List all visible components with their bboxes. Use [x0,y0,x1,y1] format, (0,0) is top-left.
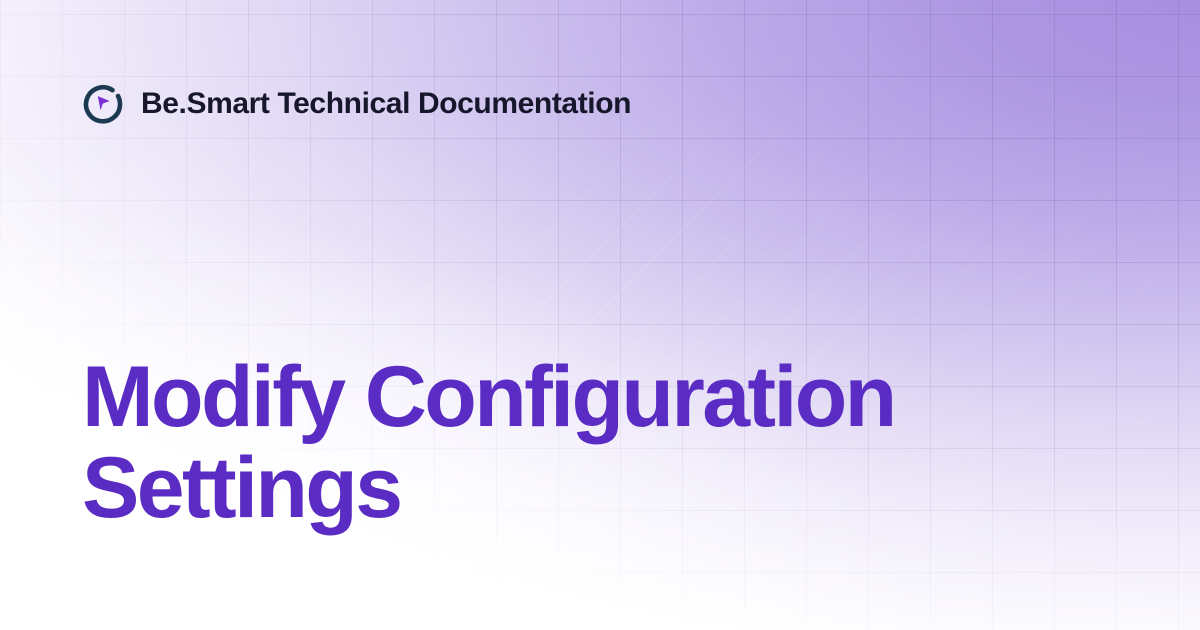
brand-header: Be.Smart Technical Documentation [82,83,631,125]
documentation-banner: Be.Smart Technical Documentation Modify … [0,0,1200,630]
page-title: Modify Configuration Settings [82,352,1102,534]
cursor-ring-logo-icon [82,83,124,125]
brand-title: Be.Smart Technical Documentation [141,89,631,119]
